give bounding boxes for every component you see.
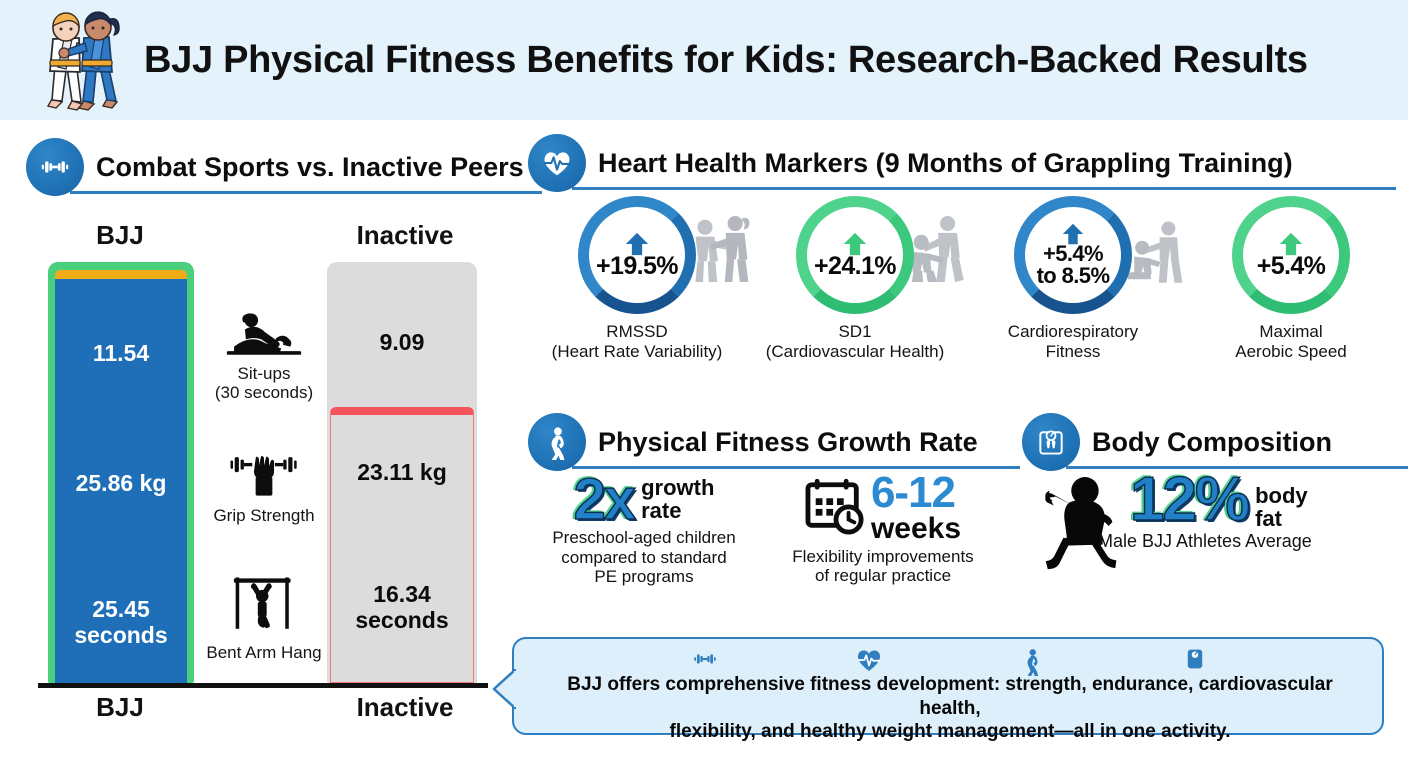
bar-value-bjj-situps: 11.54 <box>55 341 187 367</box>
growth-rate-2x-caption: Preschool-aged children compared to stan… <box>528 528 760 586</box>
body-composition-stat: 12% body fat Male BJJ Athletes Average <box>1130 471 1312 552</box>
body-composition-panel: Body Composition 12% <box>1022 413 1408 633</box>
bc-unit-l2: fat <box>1255 508 1308 531</box>
metric-grip-strength: Grip Strength <box>200 448 328 525</box>
infographic-page: BJJ Physical Fitness Benefits for Kids: … <box>0 0 1408 768</box>
hh-caption-sd1-l2: (Cardiovascular Health) <box>746 342 964 362</box>
bar-value-inactive-hang-l2: seconds <box>327 608 477 634</box>
hh-ring-cardiorespiratory: +5.4% to 8.5% <box>1014 196 1132 314</box>
summary-callout: BJJ offers comprehensive fitness develop… <box>512 637 1384 735</box>
bar-value-bjj-hang-l2: seconds <box>55 623 187 649</box>
metric-situps-caption-l1: Sit-ups <box>200 364 328 383</box>
column-label-inactive-top: Inactive <box>325 220 485 251</box>
callout-line-1: BJJ offers comprehensive fitness develop… <box>536 673 1364 720</box>
growth-rate-weeks-caption: Flexibility improvements of regular prac… <box>760 547 1006 586</box>
bar-bjj-fill: 11.54 25.86 kg 25.45 seconds <box>55 270 187 683</box>
gr-weeks-cap-l1: Flexibility improvements <box>760 547 1006 566</box>
situp-icon <box>225 310 303 356</box>
heart-health-header: Heart Health Markers (9 Months of Grappl… <box>528 134 1396 192</box>
dumbbell-icon <box>692 646 718 672</box>
bar-value-bjj-hang-l1: 25.45 <box>55 597 187 623</box>
hh-value-cardiorespiratory: +5.4% <box>1043 243 1103 265</box>
bar-bjj: 11.54 25.86 kg 25.45 seconds <box>48 262 194 683</box>
page-header: BJJ Physical Fitness Benefits for Kids: … <box>0 0 1408 120</box>
column-label-bjj-bottom: BJJ <box>50 692 190 723</box>
heart-pulse-icon <box>528 134 586 192</box>
page-title: BJJ Physical Fitness Benefits for Kids: … <box>144 39 1308 82</box>
growth-rate-items: 2x growth rate Preschool-aged children c… <box>528 473 1006 586</box>
bar-value-bjj-hang: 25.45 seconds <box>55 597 187 649</box>
dumbbell-icon <box>26 138 84 196</box>
callout-arrow-icon <box>492 669 516 709</box>
hh-caption-rmssd: RMSSD (Heart Rate Variability) <box>528 322 746 363</box>
gr-2x-cap-l3: PE programs <box>528 567 760 586</box>
bent-arm-hang-icon <box>228 573 300 635</box>
hh-value-sd1: +24.1% <box>814 254 896 279</box>
callout-summary-text: BJJ offers comprehensive fitness develop… <box>536 673 1364 744</box>
growth-rate-2x-unit: growth rate <box>641 477 714 523</box>
hh-caption-rmssd-l1: RMSSD <box>528 322 746 342</box>
growth-rate-title: Physical Fitness Growth Rate <box>598 429 978 456</box>
heart-pulse-icon <box>855 646 883 674</box>
heart-health-metrics-row: +19.5% RMSSD (Heart Rate Variability) <box>528 196 1400 363</box>
metric-icon-column: Sit-ups (30 seconds) Grip Stre <box>200 262 328 662</box>
combat-sports-comparison-panel: Combat Sports vs. Inactive Peers BJJ Ina… <box>0 122 520 768</box>
karate-kid-silhouette-icon <box>1034 473 1132 581</box>
growth-rate-header: Physical Fitness Growth Rate <box>528 413 1006 471</box>
metric-situps: Sit-ups (30 seconds) <box>200 310 328 402</box>
stretching-person-icon <box>528 413 586 471</box>
weight-scale-icon <box>1182 646 1208 672</box>
bjj-kids-grappling-illustration-icon <box>22 5 134 115</box>
body-composition-caption: Male BJJ Athletes Average <box>1098 531 1312 552</box>
bar-inactive-sub-outline <box>330 407 474 683</box>
growth-rate-2x-unit-l2: rate <box>641 500 714 523</box>
bar-value-inactive-grip: 23.11 kg <box>327 460 477 486</box>
hh-ring-maximal-aerobic-speed: +5.4% <box>1232 196 1350 314</box>
bar-value-inactive-hang: 16.34 seconds <box>327 582 477 634</box>
growth-rate-panel: Physical Fitness Growth Rate 2x growth r… <box>528 413 1006 633</box>
hh-metric-maximal-aerobic-speed: +5.4% Maximal Aerobic Speed <box>1182 196 1400 363</box>
callout-line-2: flexibility, and healthy weight manageme… <box>536 720 1364 744</box>
growth-rate-weeks-text: 6-12 weeks <box>871 473 961 545</box>
metric-hang-caption: Bent Arm Hang <box>200 643 328 662</box>
growth-rate-2x-value: 2x <box>574 473 635 526</box>
bar-value-inactive-hang-l1: 16.34 <box>327 582 477 608</box>
hh-caption-cardio-l1: Cardiorespiratory <box>964 322 1182 342</box>
chart-baseline <box>38 683 488 688</box>
growth-rate-weeks-top: 6-12 weeks <box>760 473 1006 545</box>
body-composition-header: Body Composition <box>1022 413 1408 471</box>
grip-strength-icon <box>228 448 300 498</box>
body-composition-value: 12% <box>1130 471 1248 528</box>
left-panel-rule <box>70 191 542 194</box>
hh-value-rmssd: +19.5% <box>596 254 678 279</box>
hh-value2-cardiorespiratory: to 8.5% <box>1037 265 1110 287</box>
judo-pair-silhouette-icon <box>688 210 754 291</box>
hh-metric-cardiorespiratory: +5.4% to 8.5% Cardiorespiratory Fitness <box>964 196 1182 363</box>
metric-situps-caption-l2: (30 seconds) <box>200 383 328 402</box>
judo-throw-silhouette-icon <box>908 210 974 291</box>
hh-caption-mas-l2: Aerobic Speed <box>1182 342 1400 362</box>
gr-2x-cap-l2: compared to standard <box>528 548 760 567</box>
hh-caption-rmssd-l2: (Heart Rate Variability) <box>528 342 746 362</box>
body-composition-unit: body fat <box>1255 485 1308 531</box>
heart-health-title: Heart Health Markers (9 Months of Grappl… <box>598 150 1293 177</box>
hh-ring-sd1: +24.1% <box>796 196 914 314</box>
weight-scale-icon <box>1022 413 1080 471</box>
hh-value-maximal-aerobic-speed: +5.4% <box>1257 254 1326 279</box>
metric-grip-caption: Grip Strength <box>200 506 328 525</box>
growth-rate-item-2x: 2x growth rate Preschool-aged children c… <box>528 473 760 586</box>
hh-caption-sd1: SD1 (Cardiovascular Health) <box>746 322 964 363</box>
bc-unit-l1: body <box>1255 485 1308 508</box>
left-panel-header: Combat Sports vs. Inactive Peers <box>26 138 526 196</box>
bar-value-bjj-grip: 25.86 kg <box>55 471 187 497</box>
growth-rate-weeks-value: 6-12 <box>871 473 961 513</box>
column-label-bjj-top: BJJ <box>50 220 190 251</box>
stretching-person-icon <box>1019 646 1045 676</box>
body-composition-stat-row: 12% body fat <box>1130 471 1312 531</box>
growth-rate-2x-top: 2x growth rate <box>528 473 760 526</box>
metric-situps-caption: Sit-ups (30 seconds) <box>200 364 328 402</box>
gr-weeks-cap-l2: of regular practice <box>760 566 1006 585</box>
column-label-inactive-bottom: Inactive <box>325 692 485 723</box>
judo-kneel-silhouette-icon <box>1124 218 1190 293</box>
growth-rate-2x-unit-l1: growth <box>641 477 714 500</box>
hh-caption-mas-l1: Maximal <box>1182 322 1400 342</box>
heart-health-panel: Heart Health Markers (9 Months of Grappl… <box>528 134 1408 399</box>
body-composition-title: Body Composition <box>1092 429 1332 456</box>
heart-health-rule <box>572 187 1396 190</box>
hh-metric-sd1: +24.1% SD1 (Cardiovascular Health) <box>746 196 964 363</box>
hh-caption-cardio-l2: Fitness <box>964 342 1182 362</box>
hh-caption-maximal-aerobic-speed: Maximal Aerobic Speed <box>1182 322 1400 363</box>
hh-metric-rmssd: +19.5% RMSSD (Heart Rate Variability) <box>528 196 746 363</box>
calendar-clock-icon <box>805 477 867 535</box>
hh-caption-sd1-l1: SD1 <box>746 322 964 342</box>
hh-ring-rmssd: +19.5% <box>578 196 696 314</box>
callout-icon-row <box>514 646 1386 676</box>
body-composition-content: 12% body fat Male BJJ Athletes Average <box>1022 471 1408 581</box>
growth-rate-item-weeks: 6-12 weeks Flexibility improvements of r… <box>760 473 1006 586</box>
metric-bent-arm-hang: Bent Arm Hang <box>200 573 328 662</box>
bar-inactive: 9.09 23.11 kg 16.34 seconds <box>327 262 477 683</box>
hh-caption-cardiorespiratory: Cardiorespiratory Fitness <box>964 322 1182 363</box>
growth-rate-weeks-unit: weeks <box>871 513 961 544</box>
left-panel-title: Combat Sports vs. Inactive Peers <box>96 154 524 181</box>
bar-value-inactive-situps: 9.09 <box>327 330 477 356</box>
gr-2x-cap-l1: Preschool-aged children <box>528 528 760 547</box>
